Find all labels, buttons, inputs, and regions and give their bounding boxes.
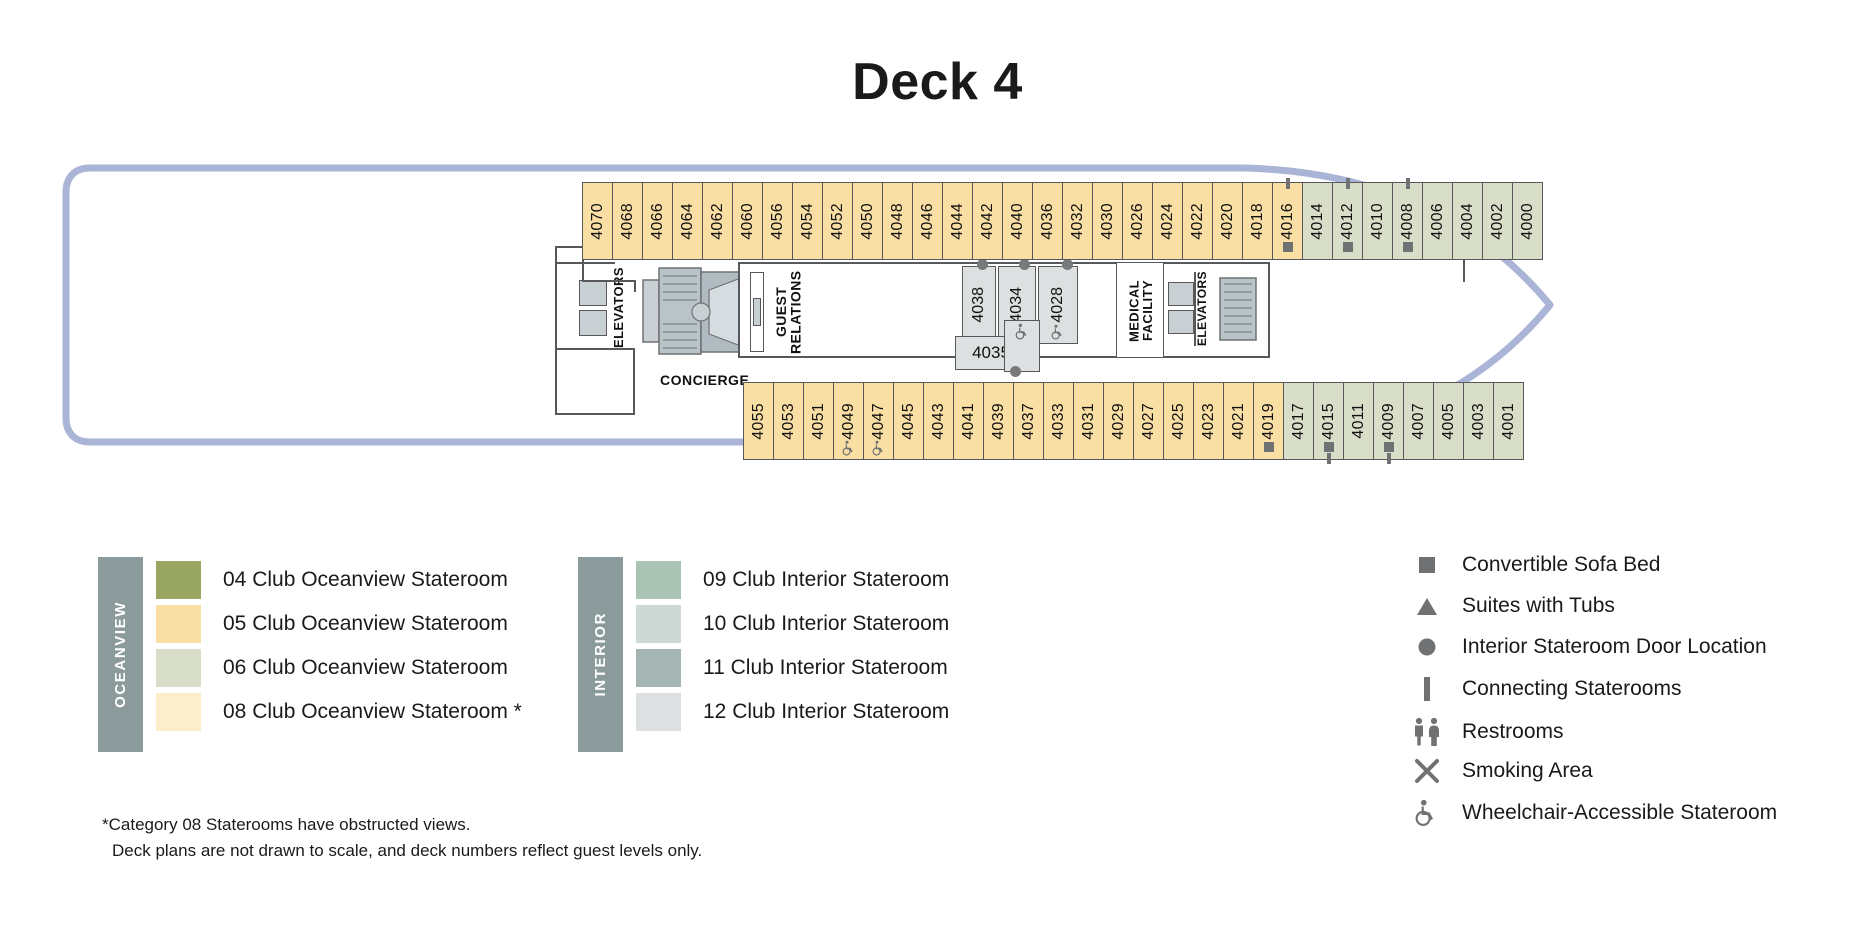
cabin-4054[interactable]: 4054: [792, 182, 823, 260]
cabin-number: 4025: [1171, 403, 1187, 440]
cabin-number: 4068: [620, 203, 636, 240]
cabin-number: 4034: [1008, 287, 1026, 323]
legend-label: 09 Club Interior Stateroom: [703, 568, 949, 592]
wheelchair-icon: [1410, 799, 1444, 827]
deck-plan-page: Deck 4 ELEVATORS: [0, 0, 1875, 938]
wheelchair-icon: [871, 440, 887, 456]
legend: OCEANVIEW 04 Club Oceanview Stateroom05 …: [0, 545, 1875, 938]
wheelchair-icon: [841, 440, 857, 456]
cabin-4066[interactable]: 4066: [642, 182, 673, 260]
cabin-4018[interactable]: 4018: [1242, 182, 1273, 260]
cabin-number: 4023: [1201, 403, 1217, 440]
legend-label: 06 Club Oceanview Stateroom: [223, 656, 508, 680]
medical-facility-room: MEDICAL FACILITY: [1116, 262, 1164, 358]
footnote-line-2: Deck plans are not drawn to scale, and d…: [102, 838, 702, 864]
square-icon: [1283, 242, 1293, 252]
cabin-number: 4041: [961, 403, 977, 440]
vertical-bar-icon: [1286, 178, 1290, 189]
cabin-number: 4055: [751, 403, 767, 440]
legend-symbol-restrooms-icon: Restrooms: [1410, 717, 1564, 747]
bulkhead-line: [582, 260, 584, 282]
legend-label: 12 Club Interior Stateroom: [703, 700, 949, 724]
interior-bar-text: INTERIOR: [592, 612, 609, 696]
cabin-4026[interactable]: 4026: [1122, 182, 1153, 260]
cabin-4005[interactable]: 4005: [1433, 382, 1464, 460]
bulkhead-line: [1463, 260, 1465, 282]
legend-group-label-oceanview: OCEANVIEW: [98, 557, 143, 752]
legend-swatch: [156, 605, 201, 643]
legend-swatch: [636, 605, 681, 643]
cabin-4025[interactable]: 4025: [1163, 382, 1194, 460]
circle-icon: [1010, 366, 1021, 377]
cabin-4045[interactable]: 4045: [893, 382, 924, 460]
cabin-number: 4062: [710, 203, 726, 240]
square-icon: [1264, 442, 1274, 452]
legend-group-label-interior: INTERIOR: [578, 557, 623, 752]
legend-symbol-wheelchair-icon: Wheelchair-Accessible Stateroom: [1410, 799, 1777, 827]
cabin-number: 4053: [781, 403, 797, 440]
cabin-4033[interactable]: 4033: [1043, 382, 1074, 460]
legend-symbol-triangle-icon: Suites with Tubs: [1410, 594, 1615, 618]
circle-icon: [1019, 259, 1030, 270]
legend-symbol-x-cross-icon: Smoking Area: [1410, 758, 1593, 784]
cabin-4009[interactable]: 4009: [1373, 382, 1404, 460]
vertical-bar-icon: [1406, 178, 1410, 189]
cabin-number: 4054: [800, 203, 816, 240]
legend-swatch: [636, 649, 681, 687]
legend-symbol-circle-icon: Interior Stateroom Door Location: [1410, 635, 1767, 659]
vertical-bar-icon: [1387, 453, 1391, 464]
cabin-4046[interactable]: 4046: [912, 182, 943, 260]
square-icon: [1384, 442, 1394, 452]
cabin-number: 4019: [1261, 403, 1277, 440]
cabin-4052[interactable]: 4052: [822, 182, 853, 260]
restrooms-icon: [1410, 717, 1444, 747]
elevators-aft-label: ELEVATORS: [612, 272, 626, 344]
cabin-4036[interactable]: 4036: [1032, 182, 1063, 260]
cabin-4004[interactable]: 4004: [1452, 182, 1483, 260]
elevator-car: [1168, 310, 1194, 334]
cabin-number: 4003: [1471, 403, 1487, 440]
cabin-row-bottom: 4055405340514049404740454043404140394037…: [743, 382, 1523, 460]
bulkhead-line: [633, 348, 635, 415]
cabin-number: 4006: [1430, 203, 1446, 240]
guest-relations-label: GUEST RELATIONS: [774, 270, 803, 354]
cabin-number: 4030: [1100, 203, 1116, 240]
footnotes: *Category 08 Staterooms have obstructed …: [102, 812, 702, 865]
concierge-label: CONCIERGE: [660, 372, 749, 388]
cabin-number: 4037: [1021, 403, 1037, 440]
cabin-number: 4044: [950, 203, 966, 240]
cabin-number: 4049: [841, 403, 857, 440]
cabin-number: 4015: [1321, 403, 1337, 440]
cabin-number: 4029: [1111, 403, 1127, 440]
legend-item-oceanview-1: 05 Club Oceanview Stateroom: [156, 605, 508, 643]
cabin-4014[interactable]: 4014: [1302, 182, 1333, 260]
cabin-number: 4066: [650, 203, 666, 240]
medical-facility-label: MEDICAL FACILITY: [1117, 267, 1165, 355]
cabin-number: 4036: [1040, 203, 1056, 240]
cabin-number: 4028: [1049, 287, 1067, 323]
cabin-4024[interactable]: 4024: [1152, 182, 1183, 260]
legend-symbol-label: Suites with Tubs: [1462, 594, 1615, 618]
cabin-4021[interactable]: 4021: [1223, 382, 1254, 460]
cabin-number: 4033: [1051, 403, 1067, 440]
cabin-number: 4032: [1070, 203, 1086, 240]
cabin-4042[interactable]: 4042: [972, 182, 1003, 260]
cabin-number: 4004: [1460, 203, 1476, 240]
cabin-4050[interactable]: 4050: [852, 182, 883, 260]
bulkhead-line: [555, 262, 615, 264]
legend-swatch: [156, 649, 201, 687]
elevator-car: [579, 280, 607, 306]
cabin-4055[interactable]: 4055: [743, 382, 774, 460]
legend-swatch: [636, 561, 681, 599]
vertical-bar-icon: [1327, 453, 1331, 464]
legend-symbol-label: Interior Stateroom Door Location: [1462, 635, 1767, 659]
legend-item-interior-2: 11 Club Interior Stateroom: [636, 649, 948, 687]
cabin-4031[interactable]: 4031: [1073, 382, 1104, 460]
cabin-4012[interactable]: 4012: [1332, 182, 1363, 260]
cabin-number: 4047: [871, 403, 887, 440]
cabin-4047[interactable]: 4047: [863, 382, 894, 460]
square-icon: [1324, 442, 1334, 452]
cabin-4041[interactable]: 4041: [953, 382, 984, 460]
legend-label: 08 Club Oceanview Stateroom *: [223, 700, 522, 724]
vertical-bar-icon: [1346, 178, 1350, 189]
cabin-number: 4060: [740, 203, 756, 240]
legend-label: 11 Club Interior Stateroom: [703, 656, 948, 680]
cabin-number: 4051: [811, 403, 827, 440]
cabin-4022[interactable]: 4022: [1182, 182, 1213, 260]
legend-item-oceanview-2: 06 Club Oceanview Stateroom: [156, 649, 508, 687]
legend-label: 04 Club Oceanview Stateroom: [223, 568, 508, 592]
cabin-4019[interactable]: 4019: [1253, 382, 1284, 460]
interior-stateroom-4028[interactable]: 4028: [1038, 266, 1078, 344]
cabin-4001[interactable]: 4001: [1493, 382, 1524, 460]
elevator-car: [1168, 282, 1194, 306]
cabin-number: 4022: [1190, 203, 1206, 240]
legend-item-interior-3: 12 Club Interior Stateroom: [636, 693, 949, 731]
cabin-4037[interactable]: 4037: [1013, 382, 1044, 460]
cabin-4068[interactable]: 4068: [612, 182, 643, 260]
cabin-4029[interactable]: 4029: [1103, 382, 1134, 460]
cabin-number: 4070: [590, 203, 606, 240]
footnote-line-1: *Category 08 Staterooms have obstructed …: [102, 812, 702, 838]
cabin-4048[interactable]: 4048: [882, 182, 913, 260]
cabin-4064[interactable]: 4064: [672, 182, 703, 260]
legend-symbol-vertical-bar-icon: Connecting Staterooms: [1410, 676, 1681, 702]
cabin-4020[interactable]: 4020: [1212, 182, 1243, 260]
cabin-4011[interactable]: 4011: [1343, 382, 1374, 460]
cabin-4070[interactable]: 4070: [582, 182, 613, 260]
bulkhead-line: [555, 413, 635, 415]
cabin-4030[interactable]: 4030: [1092, 182, 1123, 260]
wheelchair-icon: [1014, 323, 1031, 340]
cabin-number: 4043: [931, 403, 947, 440]
vertical-bar-icon: [1410, 676, 1444, 702]
legend-item-interior-1: 10 Club Interior Stateroom: [636, 605, 949, 643]
cabin-number: 4056: [770, 203, 786, 240]
x-cross-icon: [1410, 758, 1444, 784]
cabin-4043[interactable]: 4043: [923, 382, 954, 460]
cabin-4006[interactable]: 4006: [1422, 182, 1453, 260]
corridor-line: [1268, 262, 1270, 358]
cabin-4062[interactable]: 4062: [702, 182, 733, 260]
cabin-4000[interactable]: 4000: [1512, 182, 1543, 260]
legend-label: 05 Club Oceanview Stateroom: [223, 612, 508, 636]
cabin-4017[interactable]: 4017: [1283, 382, 1314, 460]
cabin-number: 4027: [1141, 403, 1157, 440]
legend-item-interior-0: 09 Club Interior Stateroom: [636, 561, 949, 599]
cabin-number: 4052: [830, 203, 846, 240]
cabin-4003[interactable]: 4003: [1463, 382, 1494, 460]
circle-icon: [1410, 637, 1444, 657]
legend-swatch: [156, 561, 201, 599]
cabin-number: 4050: [860, 203, 876, 240]
cabin-number: 4000: [1520, 203, 1536, 240]
cabin-number: 4020: [1220, 203, 1236, 240]
legend-item-oceanview-0: 04 Club Oceanview Stateroom: [156, 561, 508, 599]
cabin-number: 4038: [970, 287, 988, 323]
legend-symbol-label: Connecting Staterooms: [1462, 677, 1681, 701]
bulkhead-line: [555, 262, 557, 382]
elevator-car: [579, 310, 607, 336]
cabin-number: 4017: [1291, 403, 1307, 440]
cabin-number: 4008: [1400, 203, 1416, 240]
legend-symbol-label: Wheelchair-Accessible Stateroom: [1462, 801, 1777, 825]
cabin-number: 4009: [1381, 403, 1397, 440]
cabin-number: 4042: [980, 203, 996, 240]
guest-relations-room: GUEST RELATIONS: [738, 262, 856, 358]
legend-item-oceanview-3: 08 Club Oceanview Stateroom *: [156, 693, 522, 731]
cabin-4039[interactable]: 4039: [983, 382, 1014, 460]
bulkhead-line: [634, 280, 636, 292]
oceanview-bar-text: OCEANVIEW: [112, 601, 129, 708]
legend-swatch: [156, 693, 201, 731]
stairwell-graphic-fwd: [1218, 272, 1266, 348]
bulkhead-line: [555, 380, 557, 415]
cabin-4040[interactable]: 4040: [1002, 182, 1033, 260]
legend-swatch: [636, 693, 681, 731]
bulkhead-line: [582, 280, 636, 282]
legend-label: 10 Club Interior Stateroom: [703, 612, 949, 636]
legend-symbol-square-icon: Convertible Sofa Bed: [1410, 553, 1660, 577]
square-icon: [1403, 242, 1413, 252]
square-icon: [1343, 242, 1353, 252]
deck-layout: ELEVATORS GUEST RELATIONS CONCIERGE: [0, 0, 1875, 500]
cabin-number: 4045: [901, 403, 917, 440]
cabin-4027[interactable]: 4027: [1133, 382, 1164, 460]
cabin-number: 4005: [1441, 403, 1457, 440]
cabin-row-top: 4070406840664064406240604056405440524050…: [582, 182, 1542, 260]
cabin-number: 4018: [1250, 203, 1266, 240]
cabin-number: 4026: [1130, 203, 1146, 240]
cabin-4051[interactable]: 4051: [803, 382, 834, 460]
elevators-aft-label-box: ELEVATORS: [612, 272, 634, 344]
cabin-number: 4007: [1411, 403, 1427, 440]
cabin-number: 4039: [991, 403, 1007, 440]
bulkhead-line: [1194, 272, 1196, 346]
cabin-4010[interactable]: 4010: [1362, 182, 1393, 260]
bulkhead-line: [1463, 260, 1465, 262]
cabin-4044[interactable]: 4044: [942, 182, 973, 260]
cabin-number: 4011: [1351, 403, 1367, 439]
cabin-4032[interactable]: 4032: [1062, 182, 1093, 260]
cabin-4056[interactable]: 4056: [762, 182, 793, 260]
legend-symbol-label: Restrooms: [1462, 720, 1564, 744]
bulkhead-line: [555, 246, 557, 264]
cabin-number: 4002: [1490, 203, 1506, 240]
cabin-4060[interactable]: 4060: [732, 182, 763, 260]
elevators-fwd-label-box: ELEVATORS: [1196, 274, 1216, 344]
cabin-number: 4064: [680, 203, 696, 240]
cabin-number: 4001: [1501, 403, 1517, 440]
cabin-number: 4031: [1081, 403, 1097, 440]
cabin-number: 4046: [920, 203, 936, 240]
legend-symbol-label: Smoking Area: [1462, 759, 1593, 783]
cabin-4008[interactable]: 4008: [1392, 182, 1423, 260]
cabin-number: 4021: [1231, 403, 1247, 440]
cabin-4049[interactable]: 4049: [833, 382, 864, 460]
interior-stateroom-4038[interactable]: 4038: [962, 266, 996, 344]
wheelchair-icon: [1050, 324, 1066, 340]
cabin-number: 4016: [1280, 203, 1296, 240]
cabin-4016[interactable]: 4016: [1272, 182, 1303, 260]
square-icon: [1410, 555, 1444, 575]
triangle-icon: [1410, 596, 1444, 616]
cabin-4002[interactable]: 4002: [1482, 182, 1513, 260]
cabin-4023[interactable]: 4023: [1193, 382, 1224, 460]
cabin-4015[interactable]: 4015: [1313, 382, 1344, 460]
elevators-fwd-label: ELEVATORS: [1196, 274, 1209, 344]
cabin-number: 4012: [1340, 203, 1356, 240]
cabin-number: 4014: [1310, 203, 1326, 240]
cabin-4007[interactable]: 4007: [1403, 382, 1434, 460]
legend-symbol-label: Convertible Sofa Bed: [1462, 553, 1660, 577]
circle-icon: [1062, 259, 1073, 270]
interior-stateroom-4035-annex[interactable]: [1004, 320, 1040, 372]
cabin-number: 4010: [1370, 203, 1386, 240]
cabin-number: 4040: [1010, 203, 1026, 240]
cabin-number: 4024: [1160, 203, 1176, 240]
cabin-4053[interactable]: 4053: [773, 382, 804, 460]
cabin-number: 4048: [890, 203, 906, 240]
circle-icon: [977, 259, 988, 270]
